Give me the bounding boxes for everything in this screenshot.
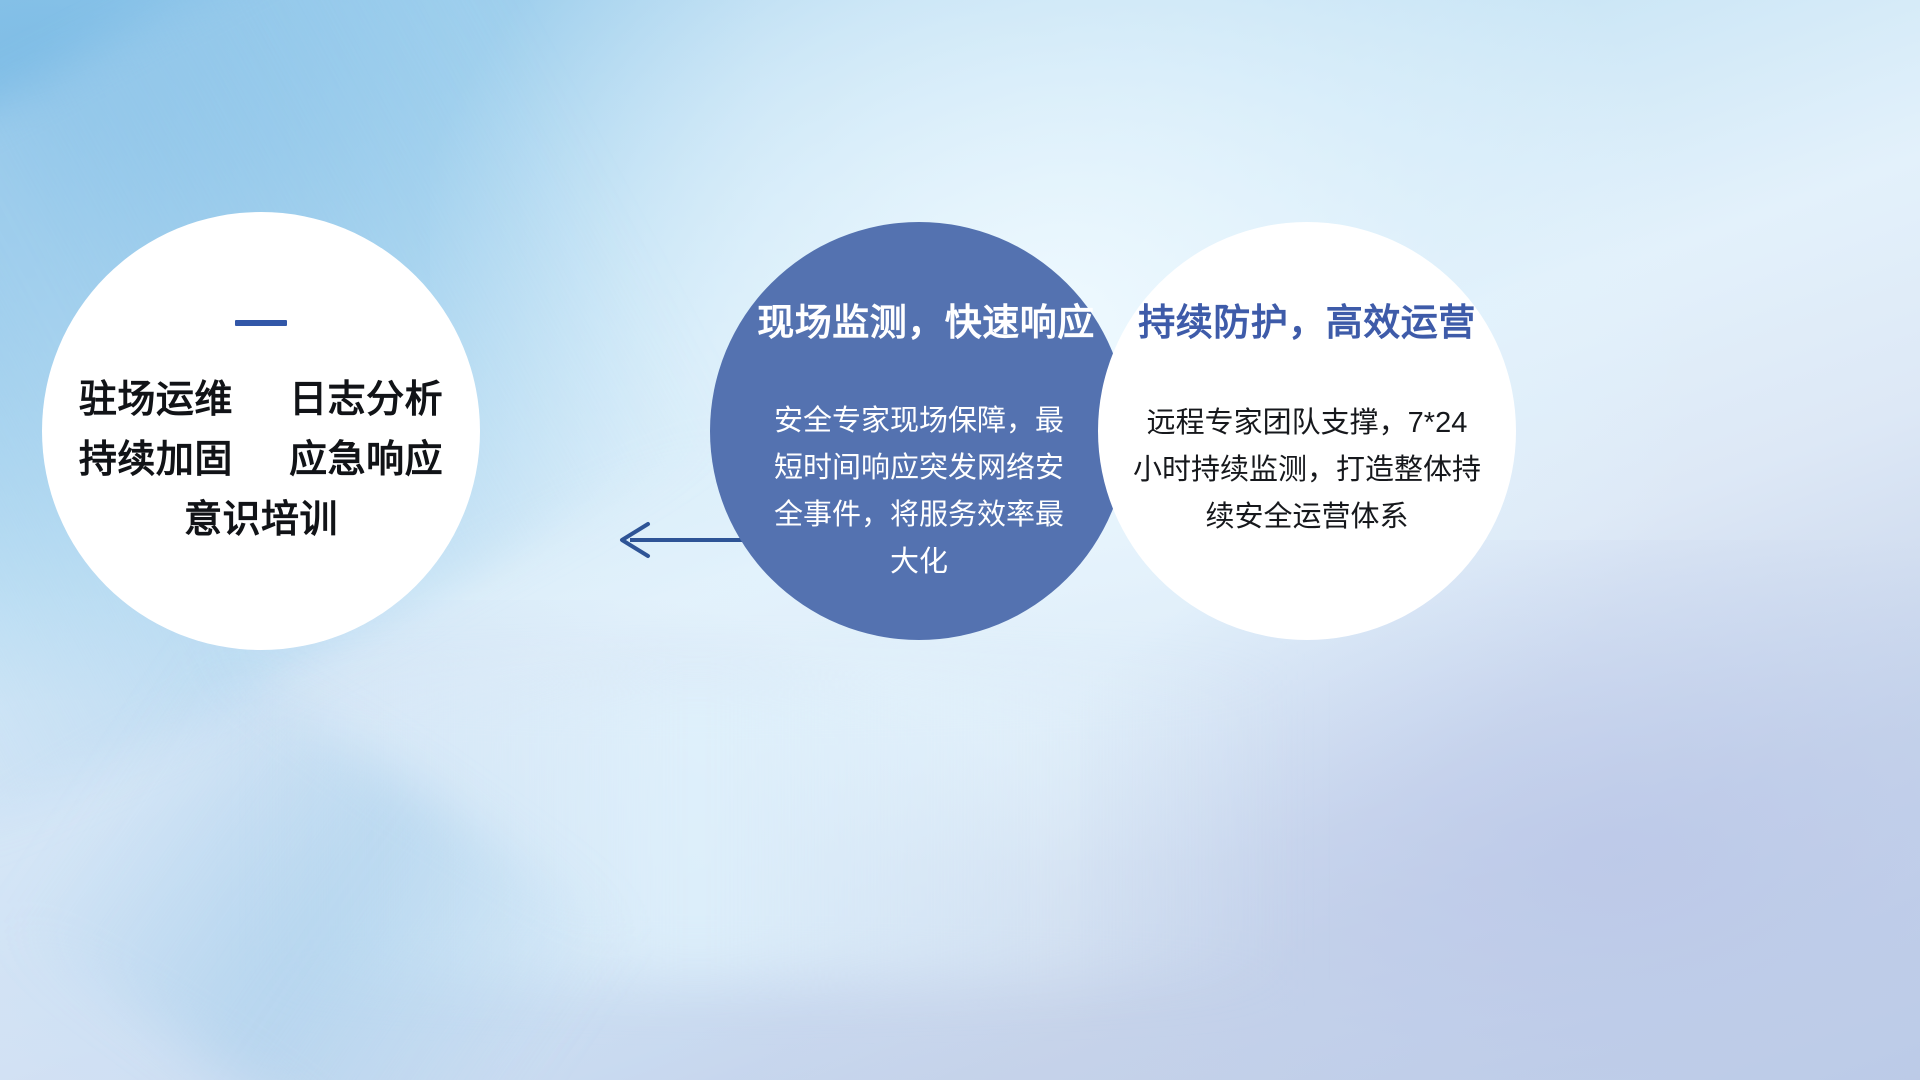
accent-dash <box>235 320 287 326</box>
keyword: 驻场运维 <box>79 379 233 421</box>
onsite-monitoring-title: 现场监测，快速响应 <box>666 292 1186 346</box>
continuous-operations-title: 持续防护，高效运营 <box>1138 292 1476 346</box>
slide-canvas: 驻场运维 日志分析 持续加固 应急响应 意识培训 现场监测，快速响应 安全专家现… <box>0 0 1920 1080</box>
list-item: 意识培训 <box>79 490 443 550</box>
keyword: 应急响应 <box>289 439 443 481</box>
keyword: 意识培训 <box>184 499 338 541</box>
continuous-operations-body: 远程专家团队支撑，7*24小时持续监测，打造整体持续安全运营体系 <box>1133 400 1481 541</box>
continuous-operations-circle[interactable]: 持续防护，高效运营 远程专家团队支撑，7*24小时持续监测，打造整体持续安全运营… <box>1098 222 1516 640</box>
keyword: 日志分析 <box>289 379 443 421</box>
onsite-monitoring-body: 安全专家现场保障，最短时间响应突发网络安全事件，将服务效率最大化 <box>764 398 1074 586</box>
capability-keyword-list: 驻场运维 日志分析 持续加固 应急响应 意识培训 <box>79 370 443 550</box>
list-item: 驻场运维 日志分析 <box>79 370 443 430</box>
list-item: 持续加固 应急响应 <box>79 430 443 490</box>
capability-circle[interactable]: 驻场运维 日志分析 持续加固 应急响应 意识培训 <box>42 212 480 650</box>
onsite-monitoring-circle[interactable]: 现场监测，快速响应 安全专家现场保障，最短时间响应突发网络安全事件，将服务效率最… <box>710 222 1128 640</box>
keyword: 持续加固 <box>79 439 233 481</box>
